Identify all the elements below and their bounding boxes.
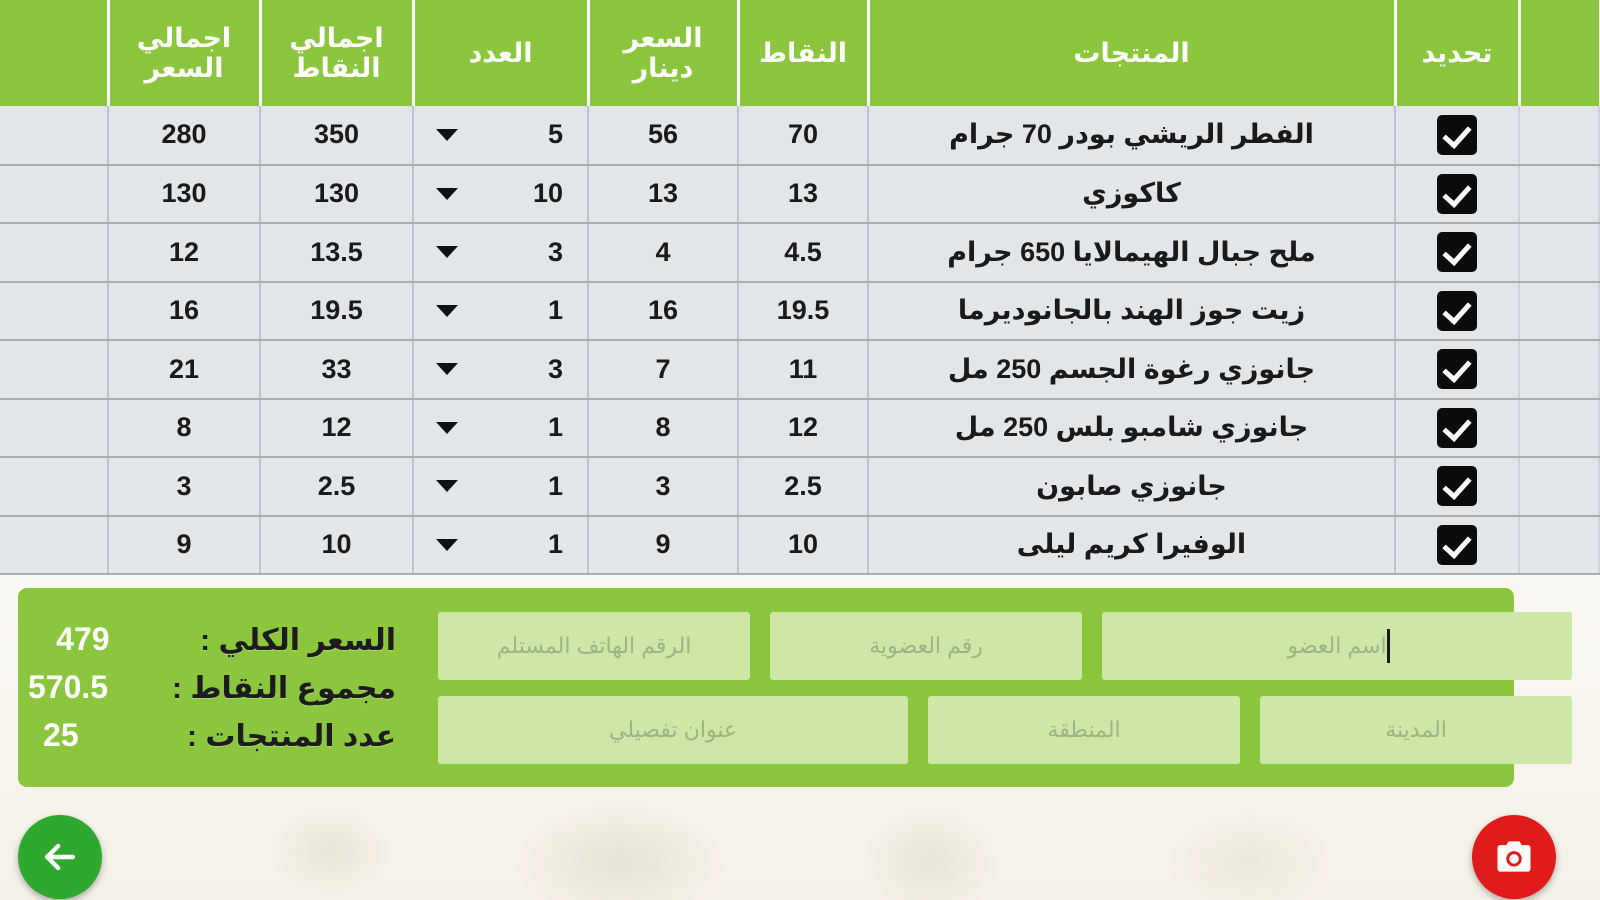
app-root: تحديد المنتجات النقاط السعردينار العدد ا… (0, 0, 1600, 900)
chevron-down-icon (436, 305, 458, 317)
checkbox-checked-icon[interactable] (1437, 174, 1477, 214)
membership-number-input[interactable] (770, 612, 1082, 680)
camera-icon (1492, 835, 1536, 879)
checkbox-checked-icon[interactable] (1437, 291, 1477, 331)
row-price-dinar: 16 (588, 282, 738, 341)
row-select-cell[interactable] (1395, 340, 1519, 399)
row-product-name: كاكوزي (868, 165, 1395, 224)
products-table-container: تحديد المنتجات النقاط السعردينار العدد ا… (0, 0, 1600, 575)
row-blank-left-cell (0, 340, 108, 399)
quantity-dropdown[interactable]: 1 (422, 463, 579, 509)
chevron-down-icon (436, 188, 458, 200)
table-header: تحديد المنتجات النقاط السعردينار العدد ا… (0, 0, 1599, 106)
row-points: 70 (738, 106, 868, 165)
row-blank-left-cell (0, 165, 108, 224)
row-total-points: 130 (260, 165, 413, 224)
column-header-total-price: اجماليالسعر (108, 0, 260, 106)
chevron-down-icon (436, 129, 458, 141)
table-row: جانوزي شامبو بلس 250 مل1281128 (0, 399, 1599, 458)
city-input[interactable] (1260, 696, 1572, 764)
row-blank-left-cell (0, 399, 108, 458)
summary-row-total-points: مجموع النقاط : 570.5 (28, 669, 396, 706)
summary-value-total-points: 570.5 (28, 669, 138, 706)
row-blank-left-cell (0, 457, 108, 516)
quantity-dropdown[interactable]: 5 (422, 112, 579, 158)
column-header-blank-right (1519, 0, 1599, 106)
summary-value-products-count: 25 (43, 717, 153, 754)
row-blank-right-cell (1519, 457, 1599, 516)
checkbox-checked-icon[interactable] (1437, 525, 1477, 565)
row-total-points: 12 (260, 399, 413, 458)
chevron-down-icon (436, 539, 458, 551)
row-price-dinar: 4 (588, 223, 738, 282)
row-total-price: 130 (108, 165, 260, 224)
back-button[interactable] (18, 815, 102, 899)
row-blank-right-cell (1519, 516, 1599, 575)
row-select-cell[interactable] (1395, 165, 1519, 224)
quantity-dropdown[interactable]: 1 (422, 522, 579, 568)
checkbox-checked-icon[interactable] (1437, 115, 1477, 155)
row-select-cell[interactable] (1395, 516, 1519, 575)
row-product-name: الوفيرا كريم ليلى (868, 516, 1395, 575)
row-blank-left-cell (0, 282, 108, 341)
quantity-value: 5 (548, 119, 563, 150)
summary-value-total-price: 479 (56, 621, 166, 658)
row-blank-left-cell (0, 516, 108, 575)
column-header-points: النقاط (738, 0, 868, 106)
receiver-phone-input[interactable] (438, 612, 750, 680)
form-row-1 (438, 612, 1572, 680)
row-points: 4.5 (738, 223, 868, 282)
summary-row-total-price: السعر الكلي : 479 (28, 621, 396, 658)
row-points: 2.5 (738, 457, 868, 516)
order-form (424, 612, 1580, 764)
quantity-value: 1 (548, 471, 563, 502)
summary-totals: السعر الكلي : 479 مجموع النقاط : 570.5 ع… (18, 621, 424, 754)
arrow-left-icon (38, 835, 82, 879)
row-blank-right-cell (1519, 106, 1599, 165)
row-total-points: 10 (260, 516, 413, 575)
table-row: جانوزي رغوة الجسم 250 مل11733321 (0, 340, 1599, 399)
column-header-total-points-line2: النقاط (292, 53, 380, 83)
column-header-total-points-line1: اجمالي (289, 23, 383, 53)
table-header-row: تحديد المنتجات النقاط السعردينار العدد ا… (0, 0, 1599, 106)
row-total-points: 19.5 (260, 282, 413, 341)
column-header-quantity: العدد (413, 0, 588, 106)
form-row-2 (438, 696, 1572, 764)
row-select-cell[interactable] (1395, 457, 1519, 516)
row-total-price: 280 (108, 106, 260, 165)
member-name-input[interactable] (1102, 612, 1572, 680)
row-total-price: 16 (108, 282, 260, 341)
summary-label-products-count: عدد المنتجات : (187, 719, 396, 754)
row-price-dinar: 56 (588, 106, 738, 165)
column-header-products: المنتجات (868, 0, 1395, 106)
summary-label-total-points: مجموع النقاط : (172, 671, 396, 706)
summary-row-products-count: عدد المنتجات : 25 (28, 717, 396, 754)
row-quantity-cell[interactable]: 1 (413, 457, 588, 516)
products-table: تحديد المنتجات النقاط السعردينار العدد ا… (0, 0, 1600, 575)
row-blank-right-cell (1519, 165, 1599, 224)
column-header-total-price-line2: السعر (145, 53, 224, 83)
row-quantity-cell[interactable]: 3 (413, 340, 588, 399)
row-points: 19.5 (738, 282, 868, 341)
row-blank-right-cell (1519, 340, 1599, 399)
member-name-field-wrap (1102, 612, 1572, 680)
row-select-cell[interactable] (1395, 399, 1519, 458)
table-row: جانوزي صابون2.5312.53 (0, 457, 1599, 516)
column-header-price-line1: السعر (624, 23, 703, 53)
table-row: كاكوزي131310130130 (0, 165, 1599, 224)
row-points: 13 (738, 165, 868, 224)
column-header-price-dinar: السعردينار (588, 0, 738, 106)
row-total-price: 8 (108, 399, 260, 458)
row-price-dinar: 3 (588, 457, 738, 516)
table-body: الفطر الريشي بودر 70 جرام70565350280كاكو… (0, 106, 1599, 574)
column-header-total-points: اجماليالنقاط (260, 0, 413, 106)
quantity-value: 1 (548, 412, 563, 443)
row-quantity-cell[interactable]: 1 (413, 399, 588, 458)
row-price-dinar: 8 (588, 399, 738, 458)
row-total-price: 3 (108, 457, 260, 516)
quantity-dropdown[interactable]: 1 (422, 405, 579, 451)
quantity-value: 10 (533, 178, 563, 209)
row-price-dinar: 13 (588, 165, 738, 224)
row-total-price: 9 (108, 516, 260, 575)
column-header-select: تحديد (1395, 0, 1519, 106)
row-quantity-cell[interactable]: 5 (413, 106, 588, 165)
row-blank-left-cell (0, 223, 108, 282)
row-price-dinar: 7 (588, 340, 738, 399)
quantity-value: 3 (548, 354, 563, 385)
row-points: 11 (738, 340, 868, 399)
row-points: 10 (738, 516, 868, 575)
row-total-points: 350 (260, 106, 413, 165)
row-product-name: جانوزي رغوة الجسم 250 مل (868, 340, 1395, 399)
row-blank-left-cell (0, 106, 108, 165)
row-total-points: 13.5 (260, 223, 413, 282)
row-price-dinar: 9 (588, 516, 738, 575)
row-select-cell[interactable] (1395, 282, 1519, 341)
camera-button[interactable] (1472, 815, 1556, 899)
checkbox-checked-icon[interactable] (1437, 232, 1477, 272)
table-row: زيت جوز الهند بالجانوديرما19.516119.516 (0, 282, 1599, 341)
column-header-blank-left (0, 0, 108, 106)
checkbox-checked-icon[interactable] (1437, 408, 1477, 448)
chevron-down-icon (436, 422, 458, 434)
summary-panel: السعر الكلي : 479 مجموع النقاط : 570.5 ع… (18, 588, 1514, 787)
quantity-dropdown[interactable]: 3 (422, 346, 579, 392)
quantity-dropdown[interactable]: 1 (422, 288, 579, 334)
chevron-down-icon (436, 480, 458, 492)
quantity-value: 3 (548, 237, 563, 268)
row-quantity-cell[interactable]: 3 (413, 223, 588, 282)
summary-label-total-price: السعر الكلي : (200, 623, 396, 658)
row-blank-right-cell (1519, 223, 1599, 282)
detailed-address-input[interactable] (438, 696, 908, 764)
quantity-dropdown[interactable]: 3 (422, 229, 579, 275)
row-product-name: جانوزي صابون (868, 457, 1395, 516)
row-points: 12 (738, 399, 868, 458)
area-input[interactable] (928, 696, 1240, 764)
row-quantity-cell[interactable]: 1 (413, 282, 588, 341)
column-header-total-price-line1: اجمالي (137, 23, 231, 53)
row-blank-right-cell (1519, 282, 1599, 341)
row-product-name: ملح جبال الهيمالايا 650 جرام (868, 223, 1395, 282)
chevron-down-icon (436, 246, 458, 258)
quantity-value: 1 (548, 295, 563, 326)
row-product-name: الفطر الريشي بودر 70 جرام (868, 106, 1395, 165)
row-select-cell[interactable] (1395, 223, 1519, 282)
row-blank-right-cell (1519, 399, 1599, 458)
table-row: الوفيرا كريم ليلى1091109 (0, 516, 1599, 575)
table-row: الفطر الريشي بودر 70 جرام70565350280 (0, 106, 1599, 165)
quantity-value: 1 (548, 529, 563, 560)
row-product-name: جانوزي شامبو بلس 250 مل (868, 399, 1395, 458)
column-header-price-line2: دينار (633, 53, 694, 83)
quantity-dropdown[interactable]: 10 (422, 171, 579, 217)
text-cursor (1387, 629, 1390, 663)
checkbox-checked-icon[interactable] (1437, 466, 1477, 506)
row-total-price: 21 (108, 340, 260, 399)
row-total-points: 2.5 (260, 457, 413, 516)
row-total-points: 33 (260, 340, 413, 399)
table-row: ملح جبال الهيمالايا 650 جرام4.54313.512 (0, 223, 1599, 282)
row-select-cell[interactable] (1395, 106, 1519, 165)
chevron-down-icon (436, 363, 458, 375)
checkbox-checked-icon[interactable] (1437, 349, 1477, 389)
row-quantity-cell[interactable]: 1 (413, 516, 588, 575)
row-product-name: زيت جوز الهند بالجانوديرما (868, 282, 1395, 341)
row-total-price: 12 (108, 223, 260, 282)
row-quantity-cell[interactable]: 10 (413, 165, 588, 224)
